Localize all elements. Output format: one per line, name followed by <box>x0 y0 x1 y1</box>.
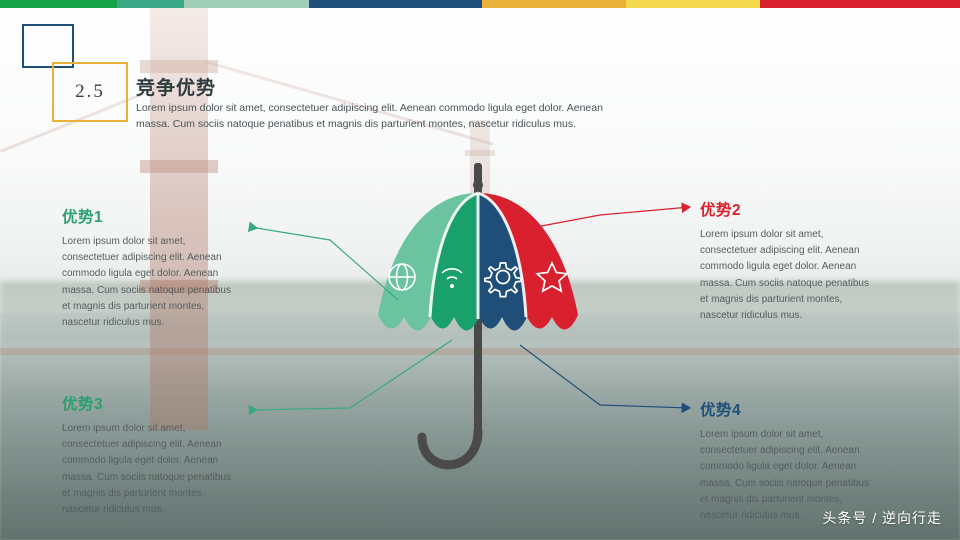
advantage-3-block: 优势3 Lorem ipsum dolor sit amet, consecte… <box>62 392 242 518</box>
top-bar-segment-2 <box>117 0 184 8</box>
advantage-1-block: 优势1 Lorem ipsum dolor sit amet, consecte… <box>62 205 242 331</box>
advantage-2-block: 优势2 Lorem ipsum dolor sit amet, consecte… <box>700 198 880 324</box>
umbrella-scallop-1 <box>378 315 430 331</box>
advantage-1-body: Lorem ipsum dolor sit amet, consectetuer… <box>62 234 242 331</box>
top-bar-segment-4 <box>309 0 482 8</box>
top-bar-segment-5 <box>482 0 626 8</box>
advantage-3-body: Lorem ipsum dolor sit amet, consectetuer… <box>62 421 242 518</box>
umbrella-diagram <box>300 145 660 495</box>
umbrella-scallop-4 <box>526 315 578 330</box>
top-bar-segment-7 <box>760 0 960 8</box>
page-title: 竞争优势 <box>136 73 216 100</box>
top-bar-segment-1 <box>0 0 117 8</box>
advantage-2-title: 优势2 <box>700 198 880 220</box>
advantage-3-title: 优势3 <box>62 392 242 414</box>
advantage-4-title: 优势4 <box>700 398 880 420</box>
advantage-1-title: 优势1 <box>62 205 242 227</box>
top-bar-segment-3 <box>184 0 309 8</box>
top-color-bar <box>0 0 960 8</box>
section-number: 2.5 <box>75 81 105 103</box>
watermark: 头条号 / 逆向行走 <box>822 508 942 528</box>
advantage-4-block: 优势4 Lorem ipsum dolor sit amet, consecte… <box>700 398 880 524</box>
section-number-box: 2.5 <box>52 62 128 122</box>
top-bar-segment-6 <box>626 0 760 8</box>
slide: 2.5 竞争优势 Lorem ipsum dolor sit amet, con… <box>0 0 960 540</box>
advantage-2-body: Lorem ipsum dolor sit amet, consectetuer… <box>700 227 880 324</box>
page-subtitle: Lorem ipsum dolor sit amet, consectetuer… <box>136 100 626 133</box>
umbrella-handle <box>422 431 478 465</box>
